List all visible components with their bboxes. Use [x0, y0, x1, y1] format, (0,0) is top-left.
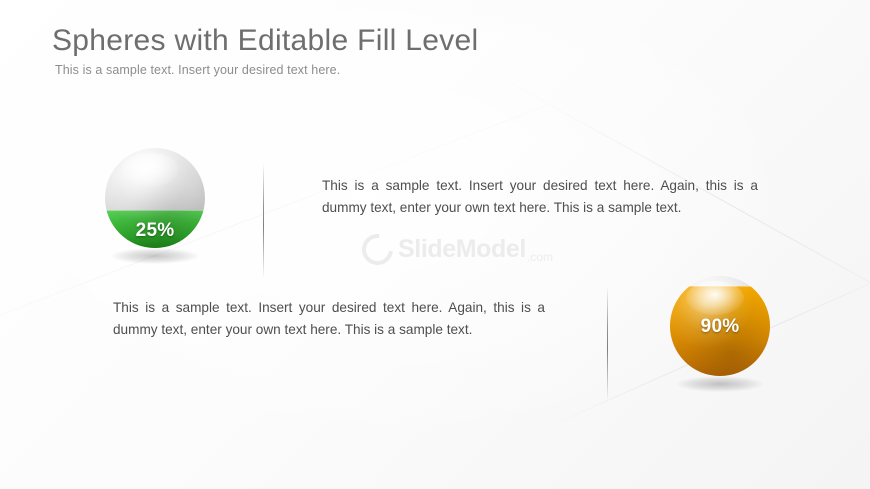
sphere-drop-shadow: [676, 376, 764, 392]
page-subtitle: This is a sample text. Insert your desir…: [55, 63, 478, 77]
vertical-divider: [607, 286, 608, 401]
bottom-text-block: This is a sample text. Insert your desir…: [113, 297, 545, 341]
slide-header: Spheres with Editable Fill Level This is…: [52, 24, 478, 77]
green-sphere[interactable]: 25%: [97, 148, 213, 280]
slide-canvas: Spheres with Editable Fill Level This is…: [0, 0, 870, 489]
sphere-drop-shadow: [111, 248, 199, 264]
sphere-percent-label: 25%: [97, 220, 213, 242]
orange-sphere[interactable]: 90%: [662, 276, 778, 408]
watermark-brand-name: SlideModel: [398, 237, 526, 262]
page-title: Spheres with Editable Fill Level: [52, 24, 478, 57]
watermark-brand-tld: .com: [527, 251, 553, 263]
top-text-block: This is a sample text. Insert your desir…: [322, 175, 758, 219]
watermark: SlideModel .com: [362, 234, 553, 265]
vertical-divider: [263, 163, 264, 278]
sphere-percent-label: 90%: [662, 316, 778, 338]
slidemodel-logo-icon: [356, 228, 400, 272]
